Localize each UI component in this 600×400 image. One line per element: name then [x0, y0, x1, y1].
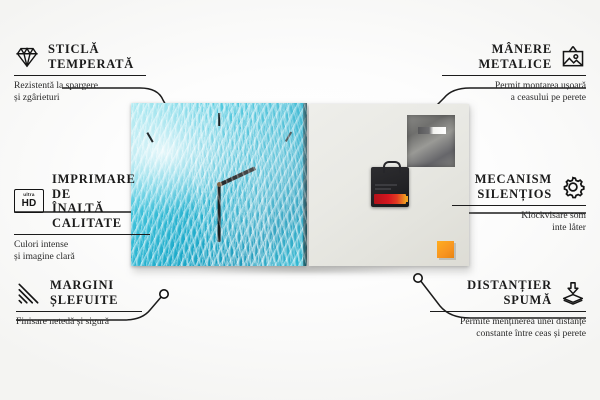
hanger-slot: [418, 127, 446, 134]
feature-subtitle: Culori intense și imagine clară: [14, 239, 150, 262]
wire-endpoint-left-3: [160, 290, 168, 298]
clock-dial: [131, 103, 307, 266]
gear-icon: [560, 174, 586, 200]
foam-spacer-icon: [560, 280, 586, 306]
glass-edge: [303, 103, 307, 266]
feature-title: STICLĂ TEMPERATĂ: [48, 42, 134, 71]
divider: [16, 311, 142, 312]
ultra-hd-badge-icon: ultra HD: [14, 189, 44, 213]
product-photo: [131, 103, 469, 268]
clock-back-view: [309, 104, 469, 266]
feature-foam-spacer: DISTANȚIER SPUMĂ Permite menținerea unei…: [430, 278, 586, 340]
minute-hand: [218, 185, 221, 242]
divider: [442, 75, 586, 76]
feature-title: DISTANȚIER SPUMĂ: [467, 278, 552, 307]
feature-subtitle: Permit montarea ușoară a ceasului pe per…: [442, 80, 586, 103]
feature-subtitle: Klockvisare som inte låter: [452, 210, 586, 233]
battery: [374, 194, 406, 204]
feature-metal-hangers: MÂNERE METALICE Permit montarea ușoară a…: [442, 42, 586, 104]
feature-title: MECANISM SILENȚIOS: [475, 172, 552, 201]
infographic-canvas: STICLĂ TEMPERATĂ Rezistentă la spargere …: [0, 0, 600, 400]
clock-mechanism: [371, 167, 409, 207]
divider: [14, 234, 150, 235]
hand-center-cap: [217, 182, 222, 187]
hour-hand: [218, 166, 256, 187]
feature-title: IMPRIMARE DE ÎNALTĂ CALITATE: [52, 172, 150, 230]
diamond-icon: [14, 44, 40, 70]
wire-endpoint-right-3: [414, 274, 422, 282]
picture-hanger-icon: [560, 44, 586, 70]
metal-hanger-plate: [407, 115, 455, 167]
mechanism-detail: [375, 188, 391, 190]
divider: [430, 311, 586, 312]
feature-polished-edges: MARGINI ȘLEFUITE Finisare netedă și sigu…: [16, 278, 142, 328]
feature-tempered-glass: STICLĂ TEMPERATĂ Rezistentă la spargere …: [14, 42, 146, 104]
feature-subtitle: Permite menținerea unei distanțe constan…: [430, 316, 586, 339]
mechanism-detail: [375, 184, 397, 186]
feature-silent-mechanism: MECANISM SILENȚIOS Klockvisare som inte …: [452, 172, 586, 234]
divider: [452, 205, 586, 206]
feature-title: MARGINI ȘLEFUITE: [50, 278, 118, 307]
feature-subtitle: Rezistentă la spargere și zgârieturi: [14, 80, 146, 103]
ultra-hd-main-text: HD: [22, 199, 37, 209]
mechanism-loop: [383, 161, 401, 173]
foam-spacer-pad: [437, 241, 454, 258]
clock-front-view: [131, 103, 307, 266]
feature-subtitle: Finisare netedă și sigură: [16, 316, 142, 328]
feature-title: MÂNERE METALICE: [478, 42, 552, 71]
divider: [14, 75, 146, 76]
polished-edge-icon: [16, 280, 42, 306]
feature-hq-print: ultra HD IMPRIMARE DE ÎNALTĂ CALITATE Cu…: [14, 172, 150, 263]
